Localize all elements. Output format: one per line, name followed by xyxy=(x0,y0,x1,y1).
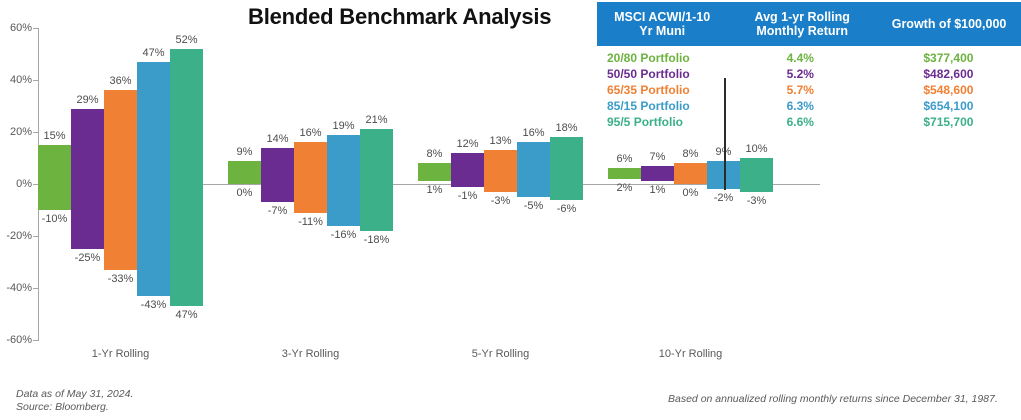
legend-header-avg-return: Avg 1-yr Rolling Monthly Return xyxy=(727,10,877,39)
y-tick-mark xyxy=(33,80,38,81)
y-tick-mark xyxy=(33,28,38,29)
legend-header-avg-return-line2: Monthly Return xyxy=(729,24,875,38)
y-tick-mark xyxy=(33,236,38,237)
bar-5-yr-rolling-95-5-portfolio[interactable] xyxy=(550,137,583,199)
legend-growth-value: $482,600 xyxy=(876,66,1021,82)
legend-row[interactable]: 95/5 Portfolio6.6%$715,700 xyxy=(597,114,1021,130)
footnote-left: Data as of May 31, 2024. Source: Bloombe… xyxy=(16,388,133,414)
legend-avg-return-value: 6.6% xyxy=(725,114,876,130)
legend-portfolio-name: 85/15 Portfolio xyxy=(597,98,725,114)
bar-10-yr-rolling-65-35-portfolio[interactable] xyxy=(674,163,707,184)
bar-min-label: -18% xyxy=(354,234,399,246)
bar-max-label: 52% xyxy=(164,34,209,46)
footnote-right: Based on annualized rolling monthly retu… xyxy=(668,393,998,405)
bar-3-yr-rolling-65-35-portfolio[interactable] xyxy=(294,142,327,212)
legend-row[interactable]: 20/80 Portfolio4.4%$377,400 xyxy=(597,50,1021,66)
bar-5-yr-rolling-20-80-portfolio[interactable] xyxy=(418,163,451,181)
y-tick-mark xyxy=(33,132,38,133)
y-tick-label: -20% xyxy=(6,230,32,242)
bar-3-yr-rolling-85-15-portfolio[interactable] xyxy=(327,135,360,226)
y-axis: 60%40%20%0%-20%-40%-60% xyxy=(0,0,32,370)
legend-vertical-divider xyxy=(724,78,726,190)
legend-portfolio-name: 20/80 Portfolio xyxy=(597,50,725,66)
legend-portfolio-name: 95/5 Portfolio xyxy=(597,114,725,130)
bar-max-label: 21% xyxy=(354,114,399,126)
bar-min-label: -6% xyxy=(544,203,589,215)
legend-table-body: 20/80 Portfolio4.4%$377,40050/50 Portfol… xyxy=(597,46,1021,130)
legend-growth-value: $654,100 xyxy=(876,98,1021,114)
bar-3-yr-rolling-95-5-portfolio[interactable] xyxy=(360,129,393,230)
legend-avg-return-value: 6.3% xyxy=(725,98,876,114)
bar-3-yr-rolling-20-80-portfolio[interactable] xyxy=(228,161,261,184)
y-tick-mark xyxy=(33,340,38,341)
y-tick-label: 40% xyxy=(10,74,32,86)
bar-1-yr-rolling-95-5-portfolio[interactable] xyxy=(170,49,203,306)
y-tick-label: 20% xyxy=(10,126,32,138)
legend-row[interactable]: 65/35 Portfolio5.7%$548,600 xyxy=(597,82,1021,98)
footnote-source: Source: Bloomberg. xyxy=(16,401,133,414)
legend-header-portfolio-line1: MSCI ACWI/1-10 xyxy=(599,10,725,24)
y-tick-mark xyxy=(33,184,38,185)
y-tick-label: -60% xyxy=(6,334,32,346)
legend-avg-return-value: 4.4% xyxy=(725,50,876,66)
bar-1-yr-rolling-20-80-portfolio[interactable] xyxy=(38,145,71,210)
bar-5-yr-rolling-85-15-portfolio[interactable] xyxy=(517,142,550,197)
bar-10-yr-rolling-50-50-portfolio[interactable] xyxy=(641,166,674,182)
footnote-data-as-of: Data as of May 31, 2024. xyxy=(16,388,133,401)
legend-header-growth: Growth of $100,000 xyxy=(877,17,1021,31)
legend-avg-return-value: 5.2% xyxy=(725,66,876,82)
bar-1-yr-rolling-65-35-portfolio[interactable] xyxy=(104,90,137,269)
y-tick-label: 0% xyxy=(16,178,32,190)
legend-portfolio-name: 65/35 Portfolio xyxy=(597,82,725,98)
bar-max-label: 18% xyxy=(544,122,589,134)
legend-header-portfolio: MSCI ACWI/1-10 Yr Muni xyxy=(597,10,727,39)
legend-table-header: MSCI ACWI/1-10 Yr Muni Avg 1-yr Rolling … xyxy=(597,2,1021,46)
x-axis-label-3-yr-rolling: 3-Yr Rolling xyxy=(282,348,339,360)
legend-growth-value: $548,600 xyxy=(876,82,1021,98)
legend-row[interactable]: 85/15 Portfolio6.3%$654,100 xyxy=(597,98,1021,114)
legend-avg-return-value: 5.7% xyxy=(725,82,876,98)
y-tick-label: 60% xyxy=(10,22,32,34)
y-tick-mark xyxy=(33,288,38,289)
bar-min-label: -3% xyxy=(734,195,779,207)
legend-growth-value: $377,400 xyxy=(876,50,1021,66)
x-axis-label-1-yr-rolling: 1-Yr Rolling xyxy=(92,348,149,360)
bar-5-yr-rolling-50-50-portfolio[interactable] xyxy=(451,153,484,187)
bar-10-yr-rolling-20-80-portfolio[interactable] xyxy=(608,168,641,178)
bar-10-yr-rolling-95-5-portfolio[interactable] xyxy=(740,158,773,192)
x-axis-label-10-yr-rolling: 10-Yr Rolling xyxy=(659,348,723,360)
legend-header-portfolio-line2: Yr Muni xyxy=(599,24,725,38)
x-axis-label-5-yr-rolling: 5-Yr Rolling xyxy=(472,348,529,360)
legend-table: MSCI ACWI/1-10 Yr Muni Avg 1-yr Rolling … xyxy=(597,2,1021,130)
legend-header-avg-return-line1: Avg 1-yr Rolling xyxy=(729,10,875,24)
bar-min-label: 47% xyxy=(164,309,209,321)
legend-growth-value: $715,700 xyxy=(876,114,1021,130)
bar-1-yr-rolling-85-15-portfolio[interactable] xyxy=(137,62,170,296)
bar-5-yr-rolling-65-35-portfolio[interactable] xyxy=(484,150,517,192)
legend-row[interactable]: 50/50 Portfolio5.2%$482,600 xyxy=(597,66,1021,82)
bar-3-yr-rolling-50-50-portfolio[interactable] xyxy=(261,148,294,203)
bar-1-yr-rolling-50-50-portfolio[interactable] xyxy=(71,109,104,249)
legend-portfolio-name: 50/50 Portfolio xyxy=(597,66,725,82)
y-tick-label: -40% xyxy=(6,282,32,294)
bar-max-label: 10% xyxy=(734,143,779,155)
